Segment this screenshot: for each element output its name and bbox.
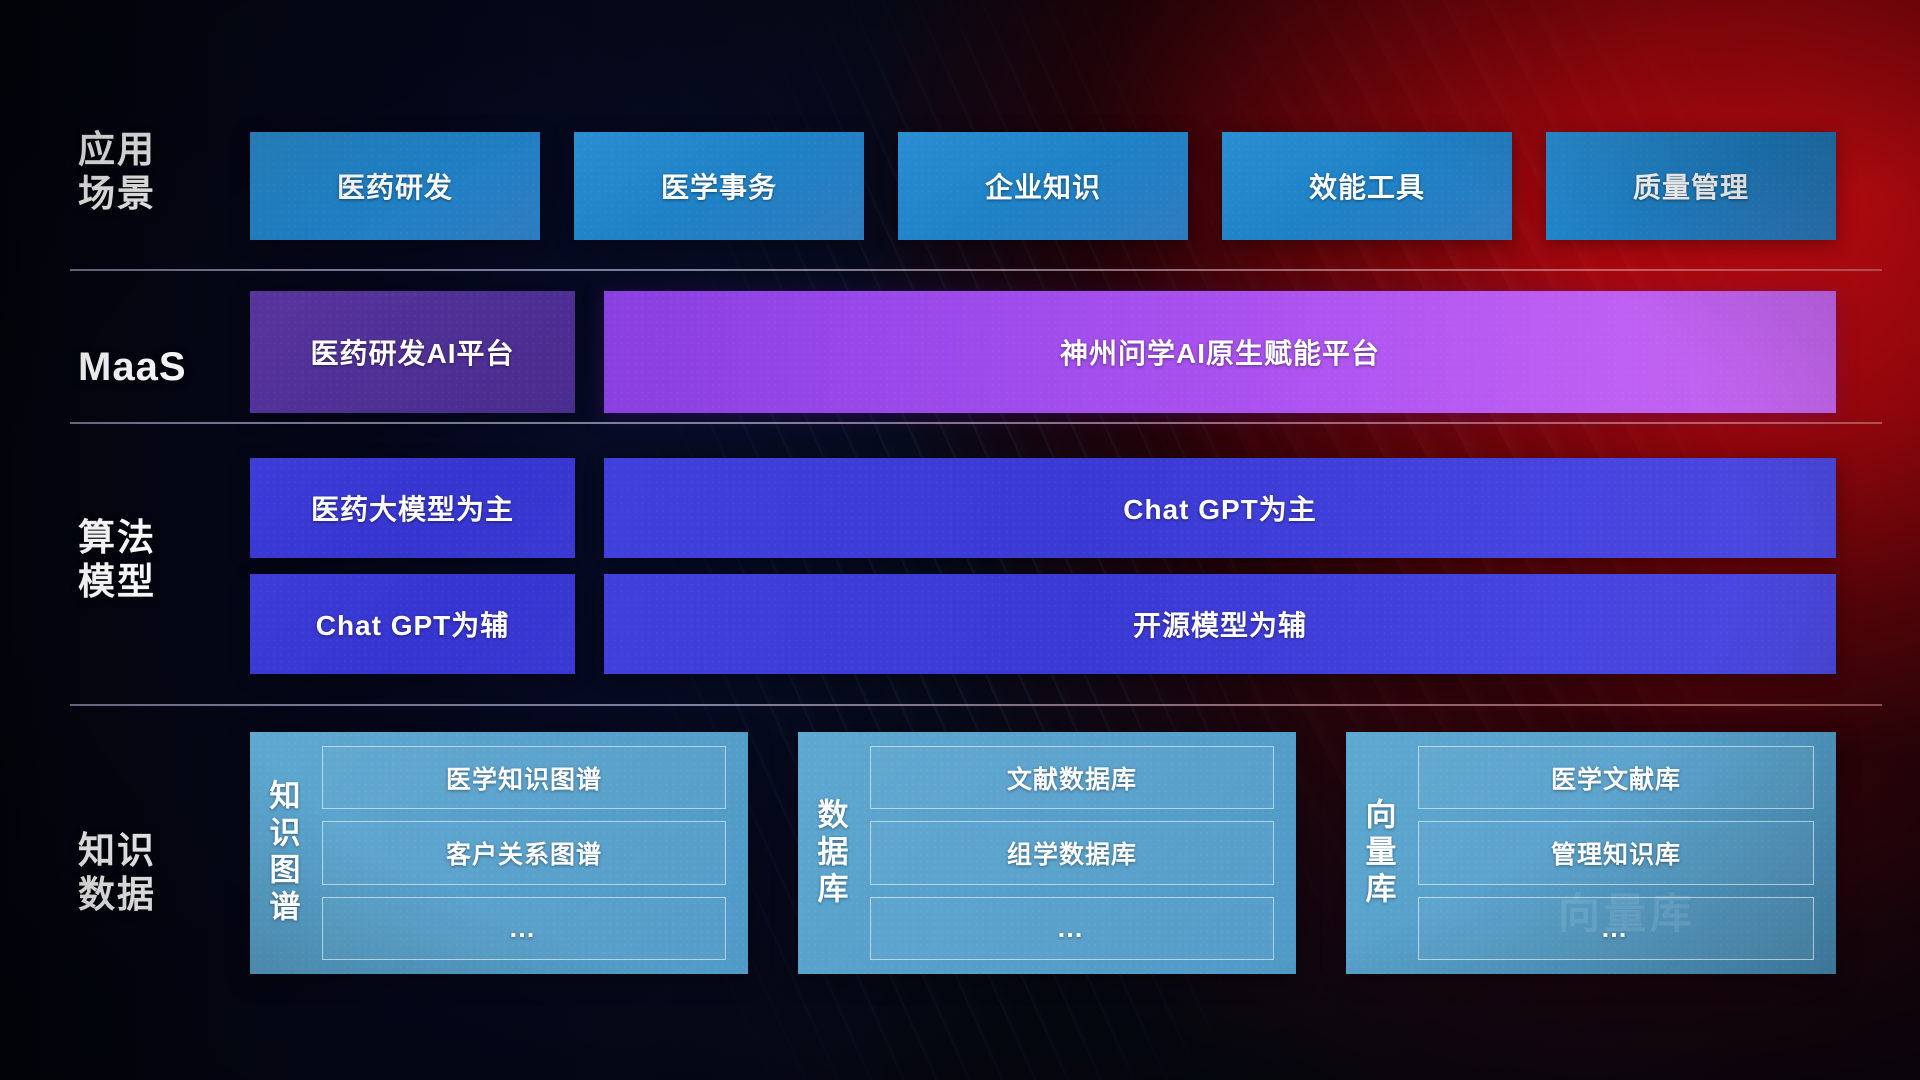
row-application-scenarios: 应用 场景 医药研发 医学事务 企业知识 效能工具 质量管理 <box>0 0 1920 271</box>
knowledge-panel-vector-items: 医学文献库 管理知识库 … <box>1410 732 1836 974</box>
knowledge-item-medical-graph-label: 医学知识图谱 <box>446 760 602 796</box>
knowledge-panel-graph-side-label: 知识图谱 <box>250 732 314 974</box>
algo-box-drug-model-primary[interactable]: 医药大模型为主 <box>250 458 575 558</box>
knowledge-item-medical-graph[interactable]: 医学知识图谱 <box>322 746 726 809</box>
app-box-medical-affairs[interactable]: 医学事务 <box>574 132 864 240</box>
algo-box-chatgpt-secondary-label: Chat GPT为辅 <box>316 604 510 644</box>
knowledge-item-database-more[interactable]: … <box>870 897 1274 960</box>
knowledge-panel-database-items: 文献数据库 组学数据库 … <box>862 732 1296 974</box>
knowledge-item-management-kb-label: 管理知识库 <box>1551 835 1681 871</box>
row-label-knowledge: 知识 数据 <box>78 829 228 916</box>
knowledge-item-customer-graph[interactable]: 客户关系图谱 <box>322 821 726 884</box>
row-label-algorithm-line1: 算法 <box>78 516 228 560</box>
maas-box-shenzhou-platform[interactable]: 神州问学AI原生赋能平台 <box>604 291 1836 413</box>
knowledge-panel-vector[interactable]: 向量库 医学文献库 管理知识库 … 向量库 <box>1346 732 1836 974</box>
app-box-drug-rd[interactable]: 医药研发 <box>250 132 540 240</box>
knowledge-panel-graph[interactable]: 知识图谱 医学知识图谱 客户关系图谱 … <box>250 732 748 974</box>
algo-box-drug-model-primary-label: 医药大模型为主 <box>311 488 514 528</box>
knowledge-item-omics-db-label: 组学数据库 <box>1007 835 1137 871</box>
row-maas: MaaS 医药研发AI平台 神州问学AI原生赋能平台 <box>0 271 1920 424</box>
knowledge-item-literature-db[interactable]: 文献数据库 <box>870 746 1274 809</box>
diagram-rows: 应用 场景 医药研发 医学事务 企业知识 效能工具 质量管理 MaaS <box>0 0 1920 1080</box>
algo-box-opensource-secondary[interactable]: 开源模型为辅 <box>604 574 1836 674</box>
knowledge-item-medical-literature[interactable]: 医学文献库 <box>1418 746 1814 809</box>
knowledge-item-customer-graph-label: 客户关系图谱 <box>446 835 602 871</box>
algo-box-opensource-secondary-label: 开源模型为辅 <box>1133 604 1307 644</box>
architecture-diagram-canvas: 应用 场景 医药研发 医学事务 企业知识 效能工具 质量管理 MaaS <box>0 0 1920 1080</box>
app-box-enterprise-knowledge[interactable]: 企业知识 <box>898 132 1188 240</box>
app-box-quality-management[interactable]: 质量管理 <box>1546 132 1836 240</box>
knowledge-item-graph-more-label: … <box>509 913 540 944</box>
app-box-efficiency-tools[interactable]: 效能工具 <box>1222 132 1512 240</box>
maas-box-shenzhou-platform-label: 神州问学AI原生赋能平台 <box>1060 332 1380 372</box>
knowledge-panel-database-side-label: 数据库 <box>798 732 862 974</box>
maas-box-drug-ai-platform[interactable]: 医药研发AI平台 <box>250 291 575 413</box>
app-box-drug-rd-label: 医药研发 <box>337 166 453 206</box>
knowledge-panel-vector-side-label: 向量库 <box>1346 732 1410 974</box>
knowledge-panel-database[interactable]: 数据库 文献数据库 组学数据库 … <box>798 732 1296 974</box>
knowledge-item-vector-more-label: … <box>1601 913 1632 944</box>
row-label-maas-text: MaaS <box>78 344 228 391</box>
row-label-maas: MaaS <box>78 344 228 391</box>
row-label-knowledge-line1: 知识 <box>78 829 228 873</box>
row-knowledge-data: 知识 数据 知识图谱 医学知识图谱 客户关系图谱 … <box>0 706 1920 1080</box>
app-box-efficiency-tools-label: 效能工具 <box>1309 166 1425 206</box>
row-label-application: 应用 场景 <box>78 128 228 215</box>
algo-box-chatgpt-primary-label: Chat GPT为主 <box>1123 488 1317 528</box>
knowledge-item-database-more-label: … <box>1057 913 1088 944</box>
algo-box-chatgpt-secondary[interactable]: Chat GPT为辅 <box>250 574 575 674</box>
row-label-application-line2: 场景 <box>78 172 228 216</box>
row-label-algorithm: 算法 模型 <box>78 516 228 603</box>
knowledge-item-vector-more[interactable]: … <box>1418 897 1814 960</box>
knowledge-item-literature-db-label: 文献数据库 <box>1007 760 1137 796</box>
app-box-quality-management-label: 质量管理 <box>1633 166 1749 206</box>
knowledge-item-omics-db[interactable]: 组学数据库 <box>870 821 1274 884</box>
knowledge-item-medical-literature-label: 医学文献库 <box>1551 760 1681 796</box>
algo-box-chatgpt-primary[interactable]: Chat GPT为主 <box>604 458 1836 558</box>
knowledge-item-management-kb[interactable]: 管理知识库 <box>1418 821 1814 884</box>
app-box-enterprise-knowledge-label: 企业知识 <box>985 166 1101 206</box>
row-label-application-line1: 应用 <box>78 128 228 172</box>
app-box-medical-affairs-label: 医学事务 <box>661 166 777 206</box>
maas-box-drug-ai-platform-label: 医药研发AI平台 <box>310 332 514 372</box>
knowledge-panel-graph-items: 医学知识图谱 客户关系图谱 … <box>314 732 748 974</box>
knowledge-item-graph-more[interactable]: … <box>322 897 726 960</box>
row-algorithm-models: 算法 模型 医药大模型为主 Chat GPT为辅 Chat GPT为主 开源模型… <box>0 424 1920 706</box>
row-label-knowledge-line2: 数据 <box>78 873 228 917</box>
row-label-algorithm-line2: 模型 <box>78 560 228 604</box>
